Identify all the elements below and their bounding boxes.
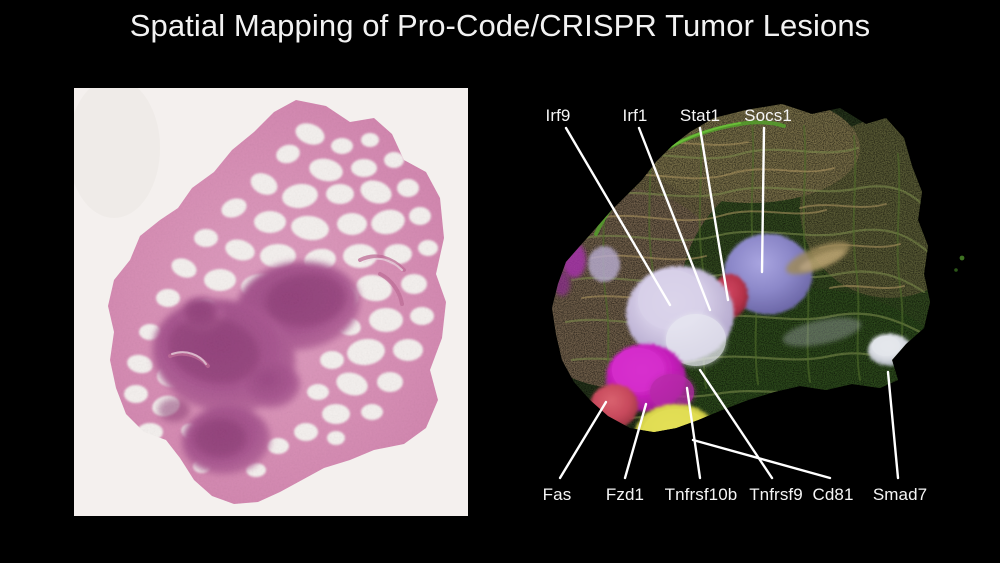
page-title: Spatial Mapping of Pro-Code/CRISPR Tumor…	[0, 8, 1000, 44]
he-tissue-image	[74, 88, 468, 516]
he-histology-panel	[74, 88, 468, 516]
lesion-irf-satellite	[588, 246, 620, 282]
procode-fluorescence-panel	[500, 88, 980, 516]
slide-canvas: Spatial Mapping of Pro-Code/CRISPR Tumor…	[0, 0, 1000, 563]
procode-tissue-image	[500, 88, 980, 516]
